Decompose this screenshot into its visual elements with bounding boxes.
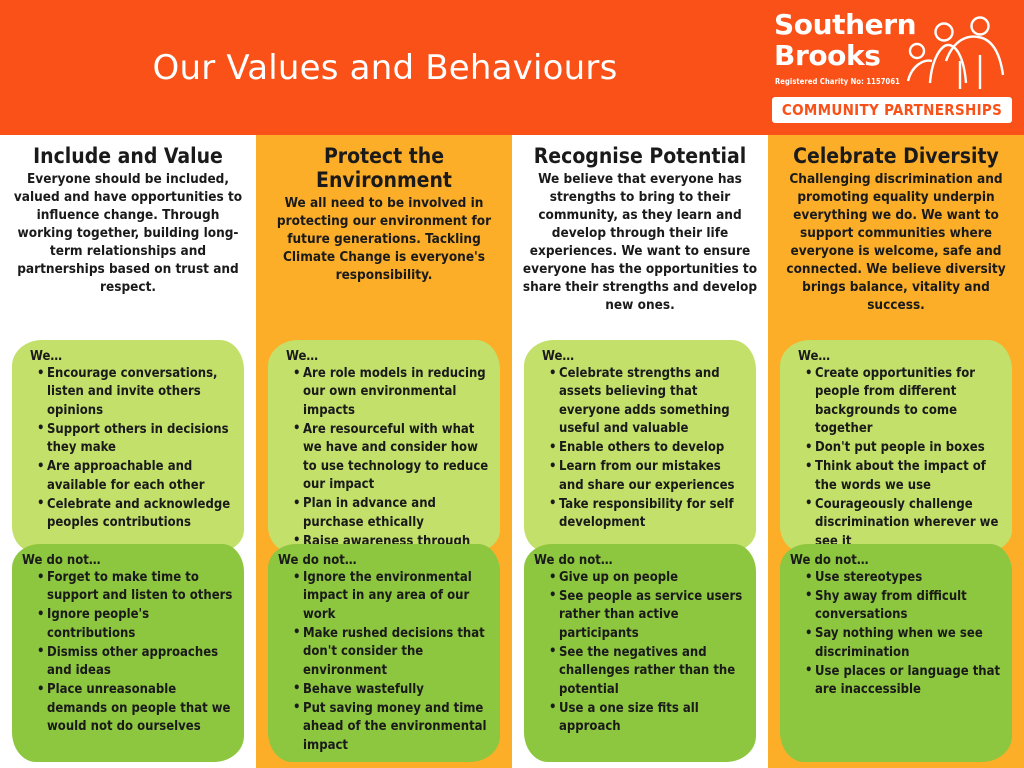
list-item: Ignore the environmental impact in any a… bbox=[293, 569, 490, 624]
we-do-lead: We… bbox=[534, 349, 746, 364]
column-title: Include and Value bbox=[9, 144, 247, 168]
list-item: See people as service users rather than … bbox=[549, 588, 746, 643]
list-item: Celebrate and acknowledge peoples contri… bbox=[37, 496, 234, 533]
we-do-not-lead: We do not… bbox=[22, 553, 234, 568]
values-and-behaviours-poster: Our Values and Behaviours Southern Brook… bbox=[0, 0, 1024, 768]
poster-header: Our Values and Behaviours Southern Brook… bbox=[0, 0, 1024, 135]
organisation-logo: Southern Brooks Registered Charity No: 1… bbox=[772, 7, 1012, 125]
list-item: Place unreasonable demands on people tha… bbox=[37, 681, 234, 736]
we-do-list: Celebrate strengths and assets believing… bbox=[534, 365, 746, 533]
column-header: Include and Value Everyone should be inc… bbox=[0, 135, 256, 297]
column-description: Everyone should be included, valued and … bbox=[9, 171, 247, 297]
we-do-not-card: We do not… Give up on people See people … bbox=[524, 544, 756, 762]
value-column-include-and-value: Include and Value Everyone should be inc… bbox=[0, 135, 256, 768]
list-item: Are role models in reducing our own envi… bbox=[293, 365, 490, 420]
list-item: Use places or language that are inaccess… bbox=[805, 663, 1002, 700]
value-column-protect-the-environment: Protect the Environment We all need to b… bbox=[256, 135, 512, 768]
logo-name-line1: Southern bbox=[774, 11, 916, 39]
list-item: Give up on people bbox=[549, 569, 746, 587]
we-do-card: We… Encourage conversations, listen and … bbox=[12, 340, 244, 552]
we-do-not-card: We do not… Forget to make time to suppor… bbox=[12, 544, 244, 762]
list-item: Use a one size fits all approach bbox=[549, 700, 746, 737]
we-do-not-lead: We do not… bbox=[790, 553, 1002, 568]
list-item: Forget to make time to support and liste… bbox=[37, 569, 234, 606]
list-item: Shy away from difficult conversations bbox=[805, 588, 1002, 625]
list-item: Behave wastefully bbox=[293, 681, 490, 699]
we-do-list: Encourage conversations, listen and invi… bbox=[22, 365, 234, 533]
column-description: We all need to be involved in protecting… bbox=[265, 195, 503, 285]
we-do-not-list: Forget to make time to support and liste… bbox=[22, 569, 234, 737]
values-columns: Include and Value Everyone should be inc… bbox=[0, 135, 1024, 768]
we-do-not-card: We do not… Ignore the environmental impa… bbox=[268, 544, 500, 762]
list-item: Think about the impact of the words we u… bbox=[805, 458, 1002, 495]
we-do-not-card: We do not… Use stereotypes Shy away from… bbox=[780, 544, 1012, 762]
column-title: Celebrate Diversity bbox=[777, 144, 1015, 168]
list-item: Say nothing when we see discrimination bbox=[805, 625, 1002, 662]
list-item: Dismiss other approaches and ideas bbox=[37, 644, 234, 681]
we-do-not-lead: We do not… bbox=[278, 553, 490, 568]
list-item: See the negatives and challenges rather … bbox=[549, 644, 746, 699]
list-item: Don't put people in boxes bbox=[805, 439, 1002, 457]
value-column-celebrate-diversity: Celebrate Diversity Challenging discrimi… bbox=[768, 135, 1024, 768]
list-item: Support others in decisions they make bbox=[37, 421, 234, 458]
we-do-lead: We… bbox=[22, 349, 234, 364]
list-item: Make rushed decisions that don't conside… bbox=[293, 625, 490, 680]
we-do-card: We… Create opportunities for people from… bbox=[780, 340, 1012, 552]
we-do-card: We… Celebrate strengths and assets belie… bbox=[524, 340, 756, 552]
logo-charity-number: Registered Charity No: 1157061 bbox=[775, 77, 900, 86]
list-item: Ignore people's contributions bbox=[37, 606, 234, 643]
column-cards: We… Create opportunities for people from… bbox=[768, 340, 1024, 762]
we-do-not-list: Give up on people See people as service … bbox=[534, 569, 746, 737]
we-do-lead: We… bbox=[278, 349, 490, 364]
column-title: Recognise Potential bbox=[521, 144, 759, 168]
page-title: Our Values and Behaviours bbox=[0, 0, 770, 135]
list-item: Take responsibility for self development bbox=[549, 496, 746, 533]
column-cards: We… Are role models in reducing our own … bbox=[256, 340, 512, 762]
logo-name-line2: Brooks bbox=[774, 42, 881, 70]
column-header: Protect the Environment We all need to b… bbox=[256, 135, 512, 285]
three-people-icon bbox=[902, 9, 1012, 97]
list-item: Create opportunities for people from dif… bbox=[805, 365, 1002, 439]
list-item: Enable others to develop bbox=[549, 439, 746, 457]
we-do-not-list: Use stereotypes Shy away from difficult … bbox=[790, 569, 1002, 700]
list-item: Celebrate strengths and assets believing… bbox=[549, 365, 746, 439]
logo-banner-text: COMMUNITY PARTNERSHIPS bbox=[782, 101, 1002, 119]
column-title: Protect the Environment bbox=[265, 144, 503, 192]
column-cards: We… Encourage conversations, listen and … bbox=[0, 340, 256, 762]
we-do-not-list: Ignore the environmental impact in any a… bbox=[278, 569, 490, 755]
list-item: Plan in advance and purchase ethically bbox=[293, 495, 490, 532]
column-header: Celebrate Diversity Challenging discrimi… bbox=[768, 135, 1024, 315]
logo-banner: COMMUNITY PARTNERSHIPS bbox=[772, 97, 1012, 123]
list-item: Courageously challenge discrimination wh… bbox=[805, 496, 1002, 551]
we-do-lead: We… bbox=[790, 349, 1002, 364]
list-item: Use stereotypes bbox=[805, 569, 1002, 587]
list-item: Are approachable and available for each … bbox=[37, 458, 234, 495]
we-do-card: We… Are role models in reducing our own … bbox=[268, 340, 500, 552]
list-item: Put saving money and time ahead of the e… bbox=[293, 700, 490, 755]
list-item: Encourage conversations, listen and invi… bbox=[37, 365, 234, 420]
column-description: We believe that everyone has strengths t… bbox=[521, 171, 759, 315]
we-do-list: Are role models in reducing our own envi… bbox=[278, 365, 490, 569]
list-item: Are resourceful with what we have and co… bbox=[293, 421, 490, 495]
column-cards: We… Celebrate strengths and assets belie… bbox=[512, 340, 768, 762]
column-description: Challenging discrimination and promoting… bbox=[777, 171, 1015, 315]
value-column-recognise-potential: Recognise Potential We believe that ever… bbox=[512, 135, 768, 768]
column-header: Recognise Potential We believe that ever… bbox=[512, 135, 768, 315]
we-do-not-lead: We do not… bbox=[534, 553, 746, 568]
list-item: Learn from our mistakes and share our ex… bbox=[549, 458, 746, 495]
we-do-list: Create opportunities for people from dif… bbox=[790, 365, 1002, 551]
